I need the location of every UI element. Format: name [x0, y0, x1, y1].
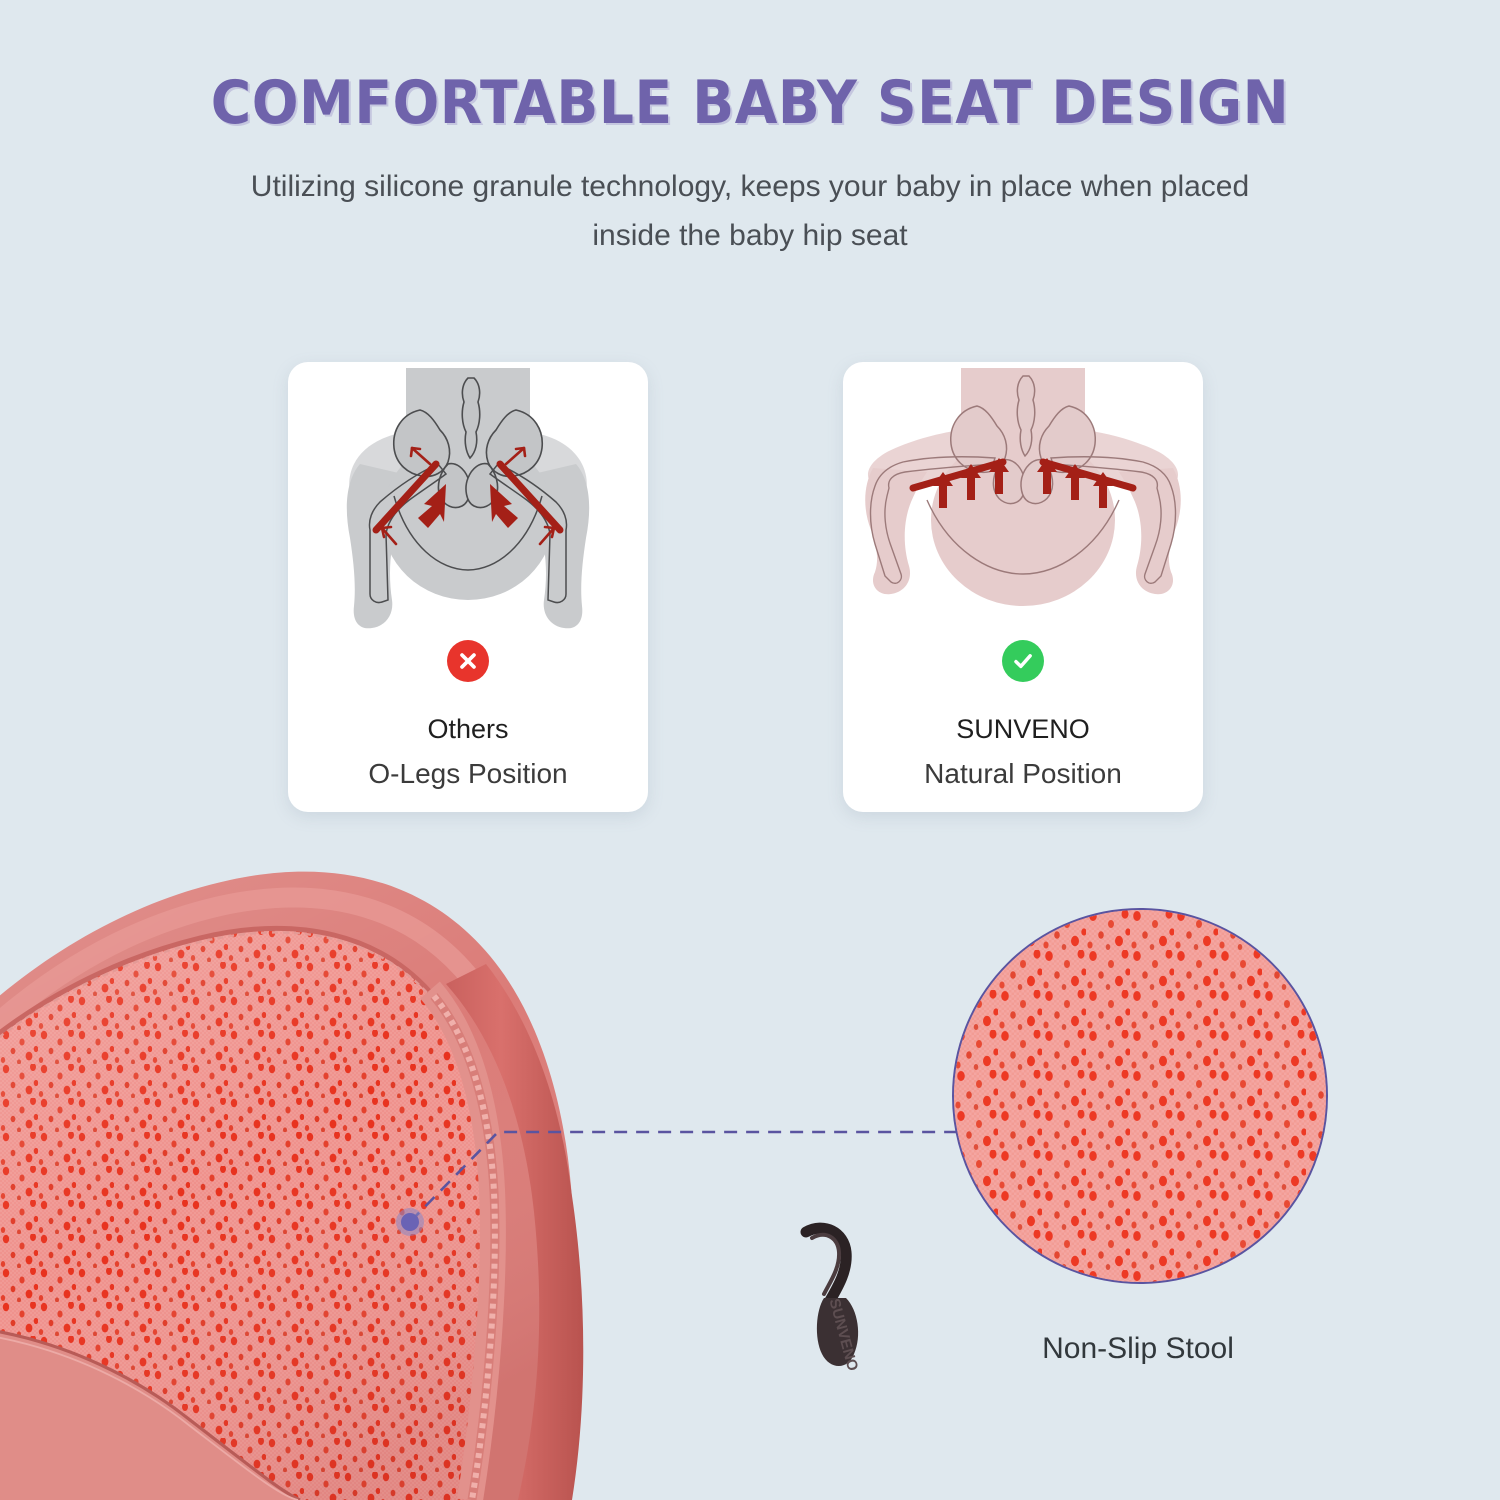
card-subtitle-others: O-Legs Position: [288, 758, 648, 790]
page-subtitle-line-1: Utilizing silicone granule technology, k…: [0, 162, 1500, 211]
page-subtitle: Utilizing silicone granule technology, k…: [0, 162, 1500, 260]
comparison-card-sunveno[interactable]: SUNVENO Natural Position: [843, 362, 1203, 812]
card-title-sunveno: SUNVENO: [843, 714, 1203, 745]
magnified-fabric-detail-circle: [952, 908, 1328, 1284]
comparison-card-others[interactable]: Others O-Legs Position: [288, 362, 648, 812]
cross-icon: [447, 640, 489, 682]
page-title: COMFORTABLE BABY SEAT DESIGN: [0, 68, 1500, 138]
natural-position-pelvis-diagram: [843, 368, 1203, 636]
card-title-others: Others: [288, 714, 648, 745]
check-icon: [1002, 640, 1044, 682]
infographic-page: COMFORTABLE BABY SEAT DESIGN Utilizing s…: [0, 0, 1500, 1500]
zipper-pull: SUNVENO: [806, 1228, 861, 1373]
card-subtitle-sunveno: Natural Position: [843, 758, 1203, 790]
magnifier-label: Non-Slip Stool: [952, 1332, 1324, 1366]
product-photo-hip-seat: SUNVENO: [0, 860, 900, 1500]
page-subtitle-line-2: inside the baby hip seat: [0, 211, 1500, 260]
o-legs-pelvis-diagram: [288, 368, 648, 636]
